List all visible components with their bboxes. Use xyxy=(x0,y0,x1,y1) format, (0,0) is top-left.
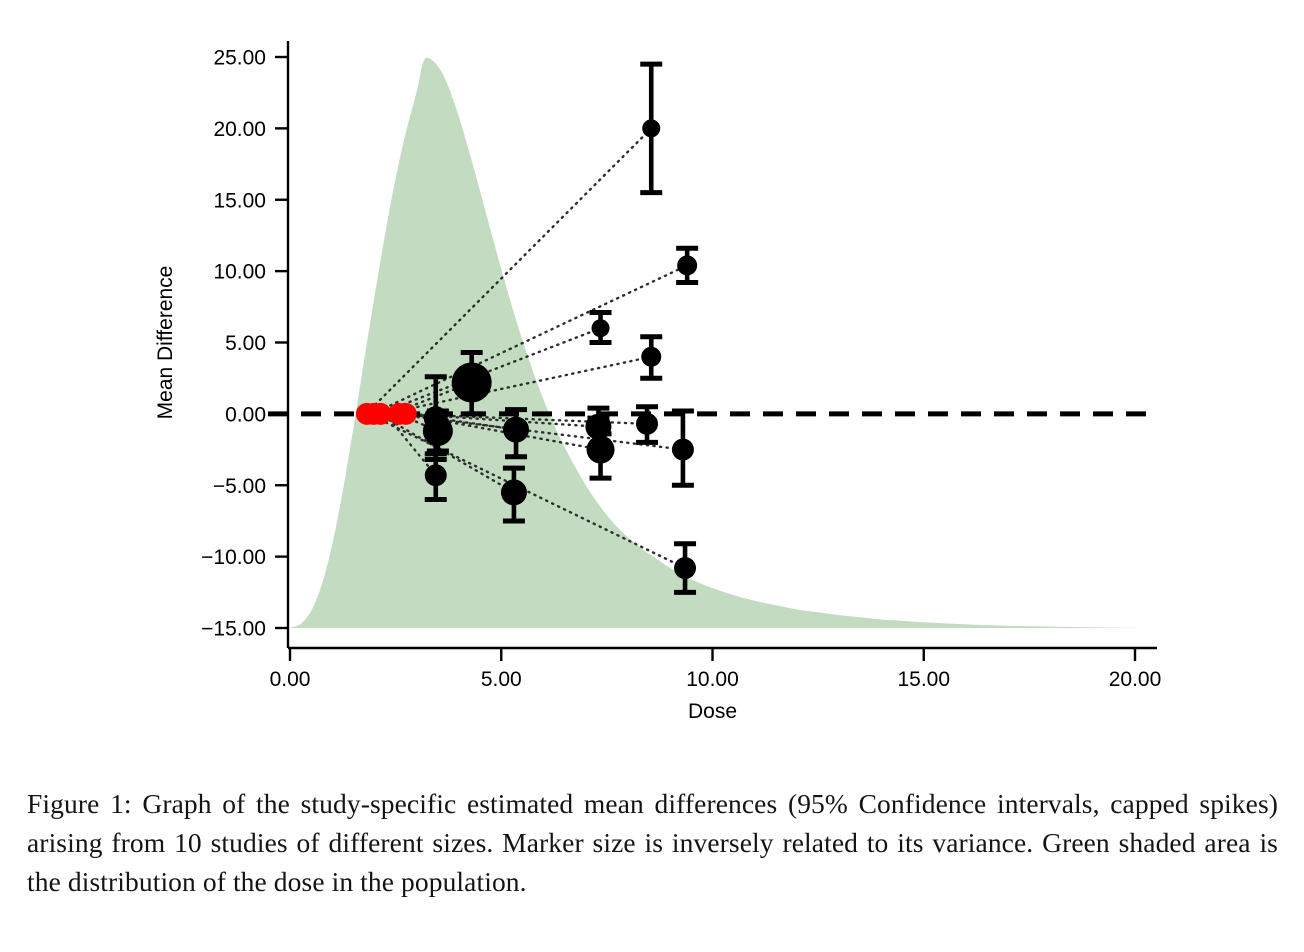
estimate-marker xyxy=(501,479,527,505)
figure-page: −15.00−10.00−5.000.005.0010.0015.0020.00… xyxy=(0,0,1304,952)
y-tick-label: −10.00 xyxy=(201,546,266,569)
figure-caption: Figure 1: Graph of the study-specific es… xyxy=(27,784,1278,901)
study-point xyxy=(587,434,615,478)
y-axis-ticks: −15.00−10.00−5.000.005.0010.0015.0020.00… xyxy=(201,47,288,641)
y-tick-label: 10.00 xyxy=(213,261,266,284)
study-point xyxy=(640,337,662,378)
y-axis-title: Mean Difference xyxy=(154,266,177,420)
estimate-marker xyxy=(587,436,615,464)
caption-text: Graph of the study-specific estimated me… xyxy=(27,788,1278,897)
estimate-marker xyxy=(503,417,529,443)
study-point xyxy=(640,64,662,192)
chart-svg: −15.00−10.00−5.000.005.0010.0015.0020.00… xyxy=(0,0,1304,740)
chart-figure: −15.00−10.00−5.000.005.0010.0015.0020.00… xyxy=(0,0,1304,740)
y-tick-label: −5.00 xyxy=(213,475,266,498)
estimate-marker xyxy=(423,416,453,446)
estimate-marker xyxy=(674,557,696,579)
y-tick-label: 20.00 xyxy=(213,118,266,141)
estimate-marker xyxy=(641,347,661,367)
caption-label: Figure 1: xyxy=(27,788,132,819)
estimate-marker xyxy=(672,439,694,461)
estimate-marker xyxy=(452,362,492,402)
study-point xyxy=(672,411,694,485)
y-tick-label: 25.00 xyxy=(213,47,266,70)
study-point xyxy=(676,248,698,282)
estimate-marker xyxy=(642,119,660,137)
y-tick-label: 0.00 xyxy=(225,403,266,426)
y-tick-label: −15.00 xyxy=(201,618,266,641)
estimate-marker xyxy=(425,464,447,486)
y-tick-label: 5.00 xyxy=(225,332,266,355)
x-tick-label: 0.00 xyxy=(270,668,311,691)
x-tick-label: 20.00 xyxy=(1109,668,1162,691)
study-point xyxy=(590,313,612,343)
x-axis-title: Dose xyxy=(688,700,737,723)
estimate-marker xyxy=(636,413,658,435)
estimate-marker xyxy=(592,319,610,337)
x-tick-label: 5.00 xyxy=(481,668,522,691)
x-tick-label: 10.00 xyxy=(686,668,739,691)
reference-markers xyxy=(356,403,417,425)
x-axis-ticks: 0.005.0010.0015.0020.00 xyxy=(270,648,1162,691)
estimate-marker xyxy=(677,255,697,275)
y-tick-label: 15.00 xyxy=(213,189,266,212)
x-tick-label: 15.00 xyxy=(897,668,950,691)
dose-density-area xyxy=(290,58,1135,628)
reference-marker xyxy=(395,403,417,425)
